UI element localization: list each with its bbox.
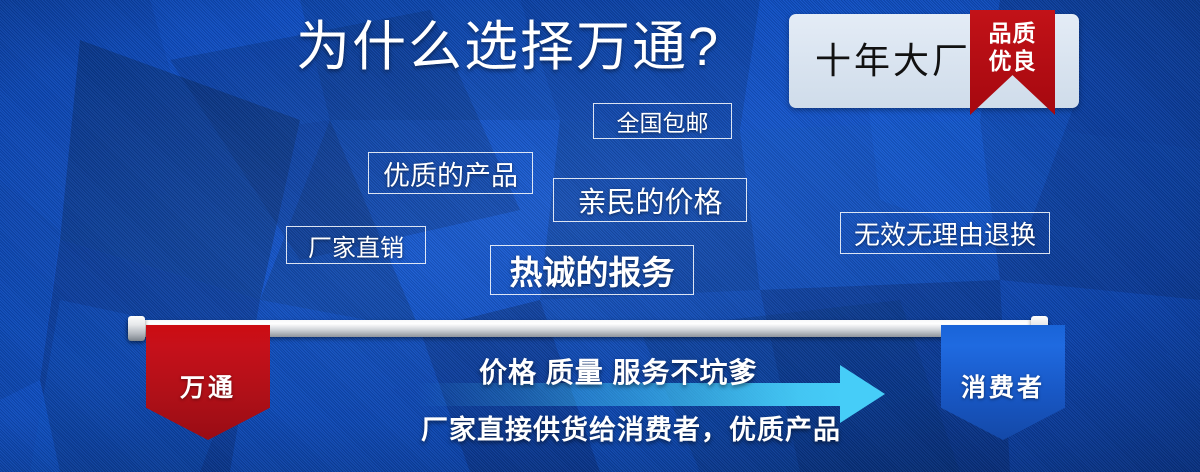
ribbon-line-2: 优良 <box>970 47 1055 75</box>
tag-friendly-price: 亲民的价格 <box>553 178 747 222</box>
banner-canvas: 为什么选择万通? 十年大厂 品质 优良 全国包邮 优质的产品 亲民的价格 无效无… <box>0 0 1200 472</box>
banner-manufacturer-label: 万通 <box>146 368 270 404</box>
rod-cap-left <box>128 316 145 341</box>
page-title: 为什么选择万通? <box>296 18 720 76</box>
flow-caption-top: 价格 质量 服务不坑爹 <box>479 351 758 391</box>
tag-quality-product: 优质的产品 <box>368 152 533 194</box>
tag-free-return: 无效无理由退换 <box>840 212 1050 254</box>
tag-nationwide-shipping: 全国包邮 <box>593 103 732 139</box>
tag-sincere-service: 热诚的报务 <box>490 245 694 295</box>
ribbon-line-1: 品质 <box>970 19 1055 47</box>
tag-factory-direct: 厂家直销 <box>286 226 426 264</box>
banner-consumer-label: 消费者 <box>941 368 1065 404</box>
quality-badge: 十年大厂 品质 优良 <box>789 14 1079 108</box>
ribbon-icon: 品质 优良 <box>970 10 1055 115</box>
flow-caption-bottom: 厂家直接供货给消费者，优质产品 <box>421 408 841 447</box>
badge-label: 十年大厂 <box>815 40 971 82</box>
